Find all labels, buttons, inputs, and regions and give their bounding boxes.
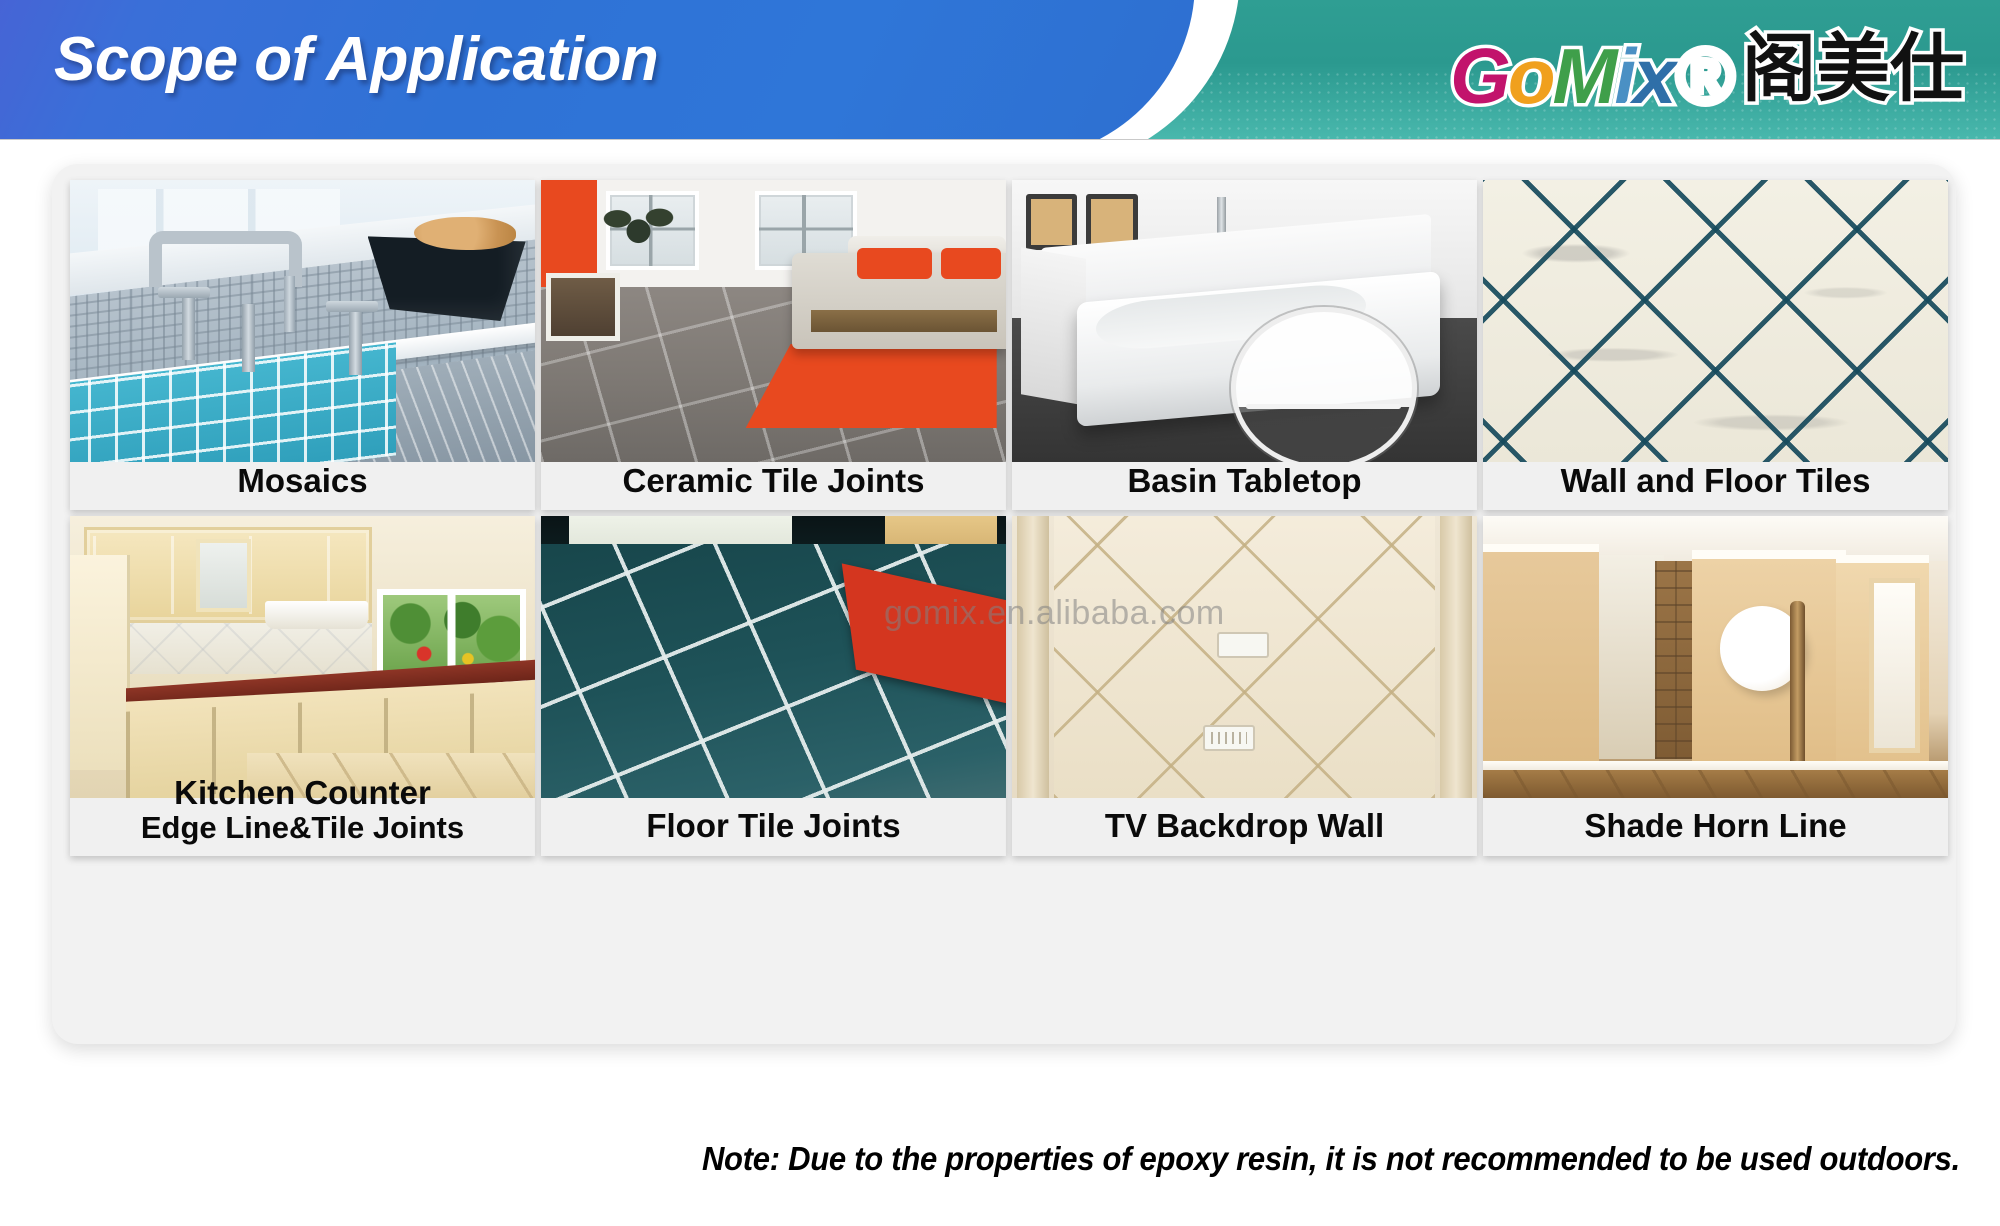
wall-socket-upper [1217, 632, 1269, 658]
bedroom-scene [541, 180, 1006, 462]
card-label-kitchen-counter: Kitchen Counter Edge Line&Tile Joints [70, 765, 535, 856]
hallway-opening [1595, 555, 1665, 758]
shade-horn-corner-line [1790, 601, 1805, 776]
logo-chinese-name: 阁美仕 [1742, 32, 1964, 106]
hallway-stone-column [1655, 561, 1692, 758]
bedroom-pillow-right [941, 248, 1001, 279]
diagonal-grout-lines [1483, 180, 1948, 462]
thumbnail-tv-backdrop-wall [1012, 516, 1477, 798]
mosaic-dark-bowl [368, 236, 526, 321]
tv-wall-scene [1012, 516, 1477, 798]
card-wall-and-floor-tiles[interactable]: Wall and Floor Tiles [1483, 180, 1948, 510]
card-label-ceramic-tile-joints: Ceramic Tile Joints [541, 446, 1006, 510]
card-label-line1: Mosaics [237, 463, 367, 499]
marble-tile-scene [1483, 180, 1948, 462]
slide-page: Scope of Application G o M i x ® 阁美仕 [0, 0, 2000, 1226]
kitchen-range-hood [265, 601, 367, 629]
kitchen-glass-cabinet-door [196, 539, 252, 612]
thumbnail-shade-horn-line [1483, 516, 1948, 798]
card-tv-backdrop-wall[interactable]: TV Backdrop Wall [1012, 516, 1477, 856]
bedroom-bed-runner [811, 310, 997, 333]
application-grid: Mosaics [70, 180, 1940, 1050]
page-header: Scope of Application G o M i x ® 阁美仕 [0, 0, 2000, 140]
kitchen-backsplash [130, 623, 372, 674]
card-floor-tile-joints[interactable]: Floor Tile Joints [541, 516, 1006, 856]
logo-letter-m: M [1552, 39, 1614, 113]
logo-letter-g: G [1450, 39, 1508, 113]
hallway-wood-floor [1483, 770, 1948, 798]
card-label-line1: Basin Tabletop [1127, 463, 1361, 499]
hallway-scene [1483, 516, 1948, 798]
thumbnail-floor-tile-joints [541, 516, 1006, 798]
card-label-line1: Ceramic Tile Joints [622, 463, 924, 499]
card-label-floor-tile-joints: Floor Tile Joints [541, 798, 1006, 856]
tv-wall-column-right [1440, 516, 1473, 798]
bedroom-plant [601, 194, 675, 256]
card-label-line1: TV Backdrop Wall [1105, 808, 1384, 844]
card-label-mosaics: Mosaics [70, 446, 535, 510]
card-label-basin-tabletop: Basin Tabletop [1012, 446, 1477, 510]
kitchen-tall-cabinet [70, 555, 130, 769]
logo-letter-x: x [1633, 39, 1673, 113]
card-label-line2: Edge Line&Tile Joints [141, 811, 464, 844]
registered-trademark-icon: ® [1676, 39, 1730, 113]
card-label-tv-backdrop-wall: TV Backdrop Wall [1012, 798, 1477, 856]
faucet-handle-cap-right [326, 301, 378, 312]
thumbnail-mosaics [70, 180, 535, 462]
card-label-line1: Floor Tile Joints [646, 808, 900, 844]
card-basin-tabletop[interactable]: Basin Tabletop [1012, 180, 1477, 510]
card-mosaics[interactable]: Mosaics [70, 180, 535, 510]
card-label-wall-and-floor-tiles: Wall and Floor Tiles [1483, 446, 1948, 510]
zoom-circle-highlight [1231, 307, 1417, 462]
card-ceramic-tile-joints[interactable]: Ceramic Tile Joints [541, 180, 1006, 510]
thumbnail-basin-tabletop [1012, 180, 1477, 462]
thumbnail-wall-and-floor-tiles [1483, 180, 1948, 462]
bathtub-scene [1012, 180, 1477, 462]
bedroom-pillow-left [857, 248, 931, 279]
faucet-handle-right [349, 307, 362, 375]
card-label-line1: Shade Horn Line [1584, 808, 1846, 844]
mosaic-scene [70, 180, 535, 462]
tv-wall-column-left [1017, 516, 1050, 798]
card-label-line1: Wall and Floor Tiles [1561, 463, 1871, 499]
faucet-spout [284, 276, 295, 332]
hallway-wall-left [1483, 544, 1599, 770]
page-title: Scope of Application [54, 24, 658, 95]
lantern-icon-left [1026, 194, 1077, 250]
thumbnail-kitchen-counter [70, 516, 535, 798]
logo-letter-o: o [1508, 39, 1553, 113]
card-shade-horn-line[interactable]: Shade Horn Line [1483, 516, 1948, 856]
gomix-logo: G o M i x ® 阁美仕 [1450, 10, 1964, 128]
hallway-door [1869, 578, 1920, 753]
bedroom-nightstand [546, 273, 620, 341]
wall-socket-lower [1203, 725, 1255, 751]
faucet-handle-cap-left [158, 287, 210, 298]
logo-letter-i: i [1614, 39, 1633, 113]
card-kitchen-counter[interactable]: Kitchen Counter Edge Line&Tile Joints [70, 516, 535, 856]
card-label-shade-horn-line: Shade Horn Line [1483, 798, 1948, 856]
thumbnail-ceramic-tile-joints [541, 180, 1006, 462]
faucet-handle-left [182, 293, 195, 361]
footer-note: Note: Due to the properties of epoxy res… [118, 1140, 1960, 1178]
card-label-line1: Kitchen Counter [174, 775, 431, 811]
faucet-arc-icon [149, 231, 302, 287]
faucet-handle-mid [242, 304, 255, 372]
floor-tile-scene [541, 516, 1006, 798]
header-divider [0, 139, 2000, 140]
logo-wordmark: G o M i x ® [1450, 25, 1730, 113]
kitchen-scene [70, 516, 535, 798]
